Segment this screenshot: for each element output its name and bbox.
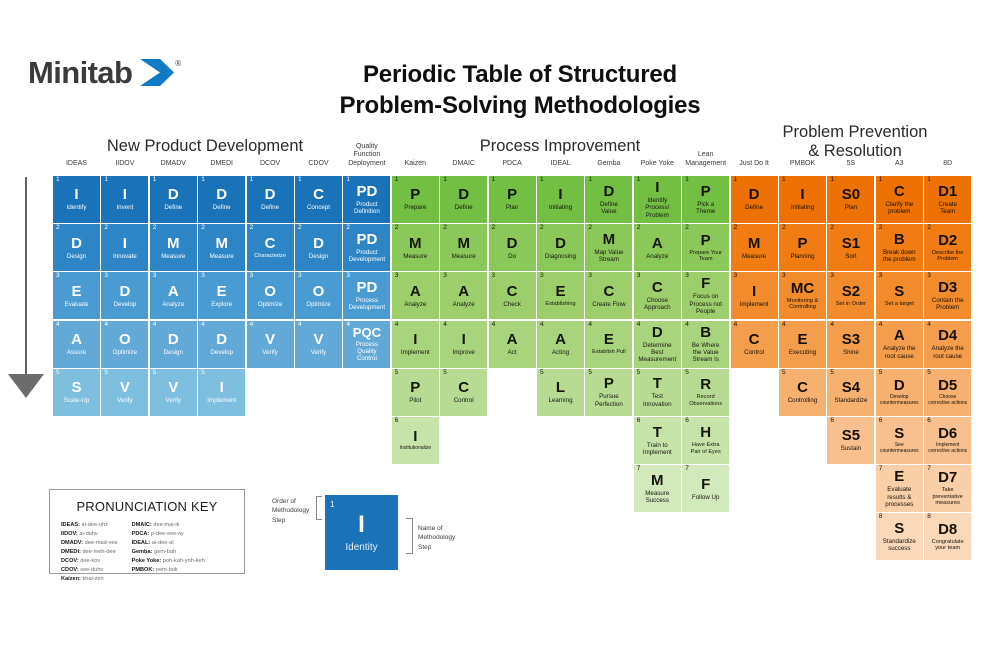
cell-gemba-1[interactable]: 1DDefineValue [585, 176, 632, 223]
cell-step-number: 5 [927, 370, 931, 377]
cell-step-number: 3 [250, 273, 254, 280]
cell-symbol: C [265, 236, 276, 251]
cell-8d-8[interactable]: 8D8Congratulateyour team [924, 513, 971, 560]
cell-symbol: I [220, 380, 224, 395]
cell-step-number: 5 [201, 370, 205, 377]
pronunciation-item-right-0: DMAIC: dee-mai-ik [132, 521, 205, 530]
cell-a3-6[interactable]: 6SSeecountermeasures [876, 417, 923, 464]
cell-step-number: 4 [346, 322, 350, 329]
cell-symbol: D2 [938, 233, 957, 248]
cell-pdca-3[interactable]: 3CCheck [489, 272, 536, 319]
cell-step-name: Check [501, 301, 523, 308]
cell-lean-6[interactable]: 6HHave ExtraPair of Eyes [682, 417, 729, 464]
cell-step-number: 4 [104, 322, 108, 329]
cell-step-name: Improve [451, 349, 477, 356]
cell-pmbok-2[interactable]: 2PPlanning [779, 224, 826, 271]
cell-pdca-1[interactable]: 1PPlan [489, 176, 536, 223]
cell-symbol: S4 [842, 380, 860, 395]
cell-pdca-4[interactable]: 4AAct [489, 321, 536, 368]
cell-symbol: D [749, 187, 760, 202]
minitab-logo: Minitab ® [28, 57, 181, 88]
pronunciation-item-right-5: PMBOK: pem-bok [132, 566, 205, 575]
cell-5s-5[interactable]: 5S4Standardize [827, 369, 874, 416]
cell-kaizen-6[interactable]: 6IInstitutionalize [392, 417, 439, 464]
cell-symbol: I [123, 236, 127, 251]
cell-step-number: 2 [927, 225, 931, 232]
cell-step-number: 3 [104, 273, 108, 280]
cell-step-name: Invent [114, 204, 135, 211]
cell-gemba-2[interactable]: 2MMap ValueStream [585, 224, 632, 271]
cell-pdca-2[interactable]: 2DDo [489, 224, 536, 271]
cell-ideas-4[interactable]: 4AAssure [53, 321, 100, 368]
cell-symbol: D [313, 236, 324, 251]
cell-step-name: Define [743, 204, 765, 211]
cell-step-name: Pick aTheme [694, 201, 717, 216]
cell-cdov-4[interactable]: 4VVerify [295, 321, 342, 368]
cell-cdov-2[interactable]: 2DDesign [295, 224, 342, 271]
cell-step-name: Measure [159, 253, 187, 260]
cell-dmedi-5[interactable]: 5IImplement [198, 369, 245, 416]
cell-lean-3[interactable]: 3FFocus onProcess notPeople [682, 272, 729, 319]
cell-pokeyoke-3[interactable]: 3CChooseApproach [634, 272, 681, 319]
cell-step-number: 1 [104, 177, 108, 184]
cell-symbol: S1 [842, 236, 860, 251]
cell-5s-6[interactable]: 6S5Sustain [827, 417, 874, 464]
cell-symbol: E [894, 469, 904, 484]
cell-justdoit-3[interactable]: 3IImplement [731, 272, 778, 319]
cell-step-number: 6 [637, 418, 641, 425]
cell-step-number: 3 [443, 273, 447, 280]
cell-symbol: V [120, 380, 130, 395]
registered-trademark-icon: ® [175, 59, 181, 68]
cell-symbol: M [603, 232, 616, 247]
legend-name-label: Name ofMethodologyStep [418, 524, 478, 552]
pronunciation-item-left-3: DMEDI: dee-meh-dee [61, 548, 118, 557]
cell-a3-5[interactable]: 5DDevelopcountermeasures [876, 369, 923, 416]
cell-pmbok-1[interactable]: 1IInitiating [779, 176, 826, 223]
cell-dmadv-5[interactable]: 5VVerify [150, 369, 197, 416]
cell-step-number: 1 [250, 177, 254, 184]
cell-step-number: 5 [56, 370, 60, 377]
cell-step-name: Focus onProcess notPeople [687, 293, 724, 315]
cell-qfd-4[interactable]: 4PQCProcessQualityControl [343, 321, 390, 368]
pronunciation-term: PMBOK: [132, 567, 155, 573]
cell-step-number: 8 [879, 514, 883, 521]
cell-step-name: Acting [550, 349, 571, 356]
cell-step-number: 1 [927, 177, 931, 184]
cell-a3-2[interactable]: 2BBreak downthe problem [876, 224, 923, 271]
cell-a3-3[interactable]: 3SSet a target [876, 272, 923, 319]
cell-pmbok-5[interactable]: 5CControlling [779, 369, 826, 416]
pronunciation-item-left-5: CDOV: see-duhv [61, 566, 118, 575]
cell-step-number: 2 [879, 225, 883, 232]
cell-dmedi-2[interactable]: 2MMeasure [198, 224, 245, 271]
cell-symbol: S2 [842, 284, 860, 299]
cell-8d-4[interactable]: 4D4Analyze theroot cause [924, 321, 971, 368]
cell-step-number: 3 [637, 273, 641, 280]
cell-symbol: F [701, 276, 710, 291]
column-label-line: Quality [333, 143, 400, 152]
column-label-line: Function [333, 151, 400, 160]
cell-symbol: D8 [938, 522, 957, 537]
cell-5s-3[interactable]: 3S2Set in Order [827, 272, 874, 319]
cell-symbol: I [752, 284, 756, 299]
cell-step-name: Measure [208, 253, 236, 260]
cell-kaizen-3[interactable]: 3AAnalyze [392, 272, 439, 319]
cell-step-name: Analyze [644, 253, 670, 260]
cell-dmadv-4[interactable]: 4DDesign [150, 321, 197, 368]
cell-symbol: D [119, 284, 130, 299]
cell-iidov-4[interactable]: 4OOptimize [101, 321, 148, 368]
cell-8d-6[interactable]: 6D6Implementcorrective actions [924, 417, 971, 464]
cell-ideal-1[interactable]: 1IInitiating [537, 176, 584, 223]
cell-step-name: Diagnosing [543, 253, 578, 260]
cell-symbol: S [894, 426, 904, 441]
cell-step-name: Identify [65, 204, 89, 211]
group-heading-new-product-development: New Product Development [55, 137, 355, 156]
cell-dmadv-1[interactable]: 1DDefine [150, 176, 197, 223]
cell-lean-7[interactable]: 7FFollow Up [682, 465, 729, 512]
cell-step-name: Develop [208, 349, 235, 356]
cell-step-number: 2 [492, 225, 496, 232]
cell-ideas-5[interactable]: 5SScale-Up [53, 369, 100, 416]
cell-step-name: Describe theProblem [930, 250, 965, 263]
cell-pmbok-4[interactable]: 4EExecuting [779, 321, 826, 368]
cell-8d-5[interactable]: 5D5Choosecorrective actions [924, 369, 971, 416]
cell-step-number: 2 [782, 225, 786, 232]
cell-8d-3[interactable]: 3D3Contain theProblem [924, 272, 971, 319]
cell-a3-1[interactable]: 1CClarify theproblem [876, 176, 923, 223]
cell-step-name: Initiating [547, 204, 574, 211]
cell-step-name: Choosecorrective actions [926, 395, 969, 407]
cell-step-number: 1 [540, 177, 544, 184]
cell-step-number: 4 [153, 322, 157, 329]
cell-step-number: 5 [782, 370, 786, 377]
cell-8d-2[interactable]: 2D2Describe theProblem [924, 224, 971, 271]
cell-symbol: M [748, 236, 761, 251]
cell-step-number: 7 [879, 466, 883, 473]
cell-symbol: P [507, 187, 517, 202]
cell-step-number: 4 [395, 322, 399, 329]
cell-step-number: 2 [250, 225, 254, 232]
cell-step-number: 3 [588, 273, 592, 280]
cell-step-number: 1 [637, 177, 641, 184]
cell-step-name: Control [742, 349, 766, 356]
cell-pokeyoke-2[interactable]: 2AAnalyze [634, 224, 681, 271]
cell-symbol: M [215, 236, 228, 251]
cell-step-number: 4 [443, 322, 447, 329]
cell-lean-2[interactable]: 2PPrepare YourTeam [682, 224, 729, 271]
cell-symbol: V [313, 332, 323, 347]
cell-symbol: I [123, 187, 127, 202]
cell-symbol: M [409, 236, 422, 251]
cell-step-name: ProcessDevelopment [347, 297, 387, 312]
cell-step-number: 3 [346, 273, 350, 280]
cell-step-number: 1 [588, 177, 592, 184]
cell-dcov-1[interactable]: 1DDefine [247, 176, 294, 223]
cell-step-name: MeasureSuccess [643, 490, 671, 505]
cell-step-name: Define [211, 204, 233, 211]
cell-symbol: C [749, 332, 760, 347]
cell-dmedi-1[interactable]: 1DDefine [198, 176, 245, 223]
pronunciation-item-left-4: DCOV: dee-kov [61, 557, 118, 566]
cell-gemba-3[interactable]: 3CCreate Flow [585, 272, 632, 319]
cell-step-number: 1 [685, 177, 689, 184]
cell-step-name: Verify [309, 349, 328, 356]
cell-step-name: Be Wherethe ValueStream Is [690, 342, 722, 364]
cell-step-name: Institutionalize [397, 446, 433, 452]
cell-dcov-2[interactable]: 2CCharacterize [247, 224, 294, 271]
pronunciation-term: PDCA: [132, 531, 150, 537]
cell-justdoit-1[interactable]: 1DDefine [731, 176, 778, 223]
cell-step-number: 3 [492, 273, 496, 280]
cell-step-name: Design [307, 253, 330, 260]
cell-8d-1[interactable]: 1D1CreateTeam [924, 176, 971, 223]
cell-5s-1[interactable]: 1S0Plan [827, 176, 874, 223]
cell-a3-7[interactable]: 7EEvaluateresults &processes [876, 465, 923, 512]
cell-step-number: 6 [927, 418, 931, 425]
cell-step-number: 6 [879, 418, 883, 425]
cell-dmaic-2[interactable]: 2MMeasure [440, 224, 487, 271]
pronunciation-item-left-2: DMADV: dee-mad-vee [61, 539, 118, 548]
pronunciation-term: DMEDI: [61, 549, 81, 555]
cell-step-name: Implement [738, 301, 771, 308]
cell-symbol: MC [791, 281, 814, 296]
page-title-line1: Periodic Table of Structured [300, 60, 740, 91]
cell-symbol: C [652, 280, 663, 295]
cell-step-name: Controlling [786, 397, 820, 404]
cell-symbol: D1 [938, 184, 957, 199]
cell-step-name: Implement [399, 349, 432, 356]
cell-symbol: T [653, 425, 662, 440]
cell-step-name: Evaluate [62, 301, 90, 308]
cell-step-name: Analyze theroot cause [930, 345, 966, 360]
cell-justdoit-4[interactable]: 4CControl [731, 321, 778, 368]
cell-step-name: CreateTeam [936, 201, 959, 216]
cell-5s-4[interactable]: 4S3Shine [827, 321, 874, 368]
cell-symbol: D [894, 378, 905, 393]
cell-step-number: 4 [782, 322, 786, 329]
cell-ideal-5[interactable]: 5LLearning [537, 369, 584, 416]
cell-5s-2[interactable]: 2S1Sort [827, 224, 874, 271]
cell-step-number: 3 [395, 273, 399, 280]
cell-step-number: 1 [782, 177, 786, 184]
cell-step-number: 3 [879, 273, 883, 280]
cell-step-number: 3 [298, 273, 302, 280]
cell-pokeyoke-4[interactable]: 4DDetermineBestMeasurement [634, 321, 681, 368]
pronunciation-key-panel: PRONUNCIATION KEY IDEAS: ai-dee-uhzIIDOV… [49, 489, 245, 574]
cell-step-number: 3 [830, 273, 834, 280]
cell-step-number: 4 [637, 322, 641, 329]
legend-left-bracket [316, 496, 322, 520]
cell-ideas-3[interactable]: 3EEvaluate [53, 272, 100, 319]
cell-lean-4[interactable]: 4BBe Wherethe ValueStream Is [682, 321, 729, 368]
cell-step-number: 4 [56, 322, 60, 329]
cell-symbol: D [216, 187, 227, 202]
cell-iidov-5[interactable]: 5VVerify [101, 369, 148, 416]
cell-step-name: Scale-Up [62, 397, 91, 404]
cell-kaizen-1[interactable]: 1PPrepare [392, 176, 439, 223]
pronunciation-item-left-1: IIDOV: ai-duhv [61, 530, 118, 539]
cell-kaizen-2[interactable]: 2MMeasure [392, 224, 439, 271]
cell-step-number: 2 [830, 225, 834, 232]
cell-step-number: 1 [298, 177, 302, 184]
cell-step-name: RecordObservations [687, 394, 724, 407]
cell-symbol: V [168, 380, 178, 395]
cell-pmbok-3[interactable]: 3MCMonitoring &Controlling [779, 272, 826, 319]
cell-step-number: 2 [201, 225, 205, 232]
cell-symbol: A [894, 328, 905, 343]
cell-symbol: PD [356, 184, 377, 199]
poster-canvas: Minitab ® Periodic Table of Structured P… [0, 0, 985, 656]
cell-step-number: 4 [685, 322, 689, 329]
pronunciation-term: IDEAS: [61, 522, 80, 528]
cell-symbol: O [313, 284, 325, 299]
cell-step-name: Train toImplement [641, 442, 674, 457]
cell-symbol: A [652, 236, 663, 251]
cell-step-number: 2 [104, 225, 108, 232]
group-heading-ppr-line1: Problem Prevention [740, 123, 970, 142]
cell-symbol: E [797, 332, 807, 347]
cell-8d-7[interactable]: 7D7Takepreventativemeasures [924, 465, 971, 512]
cell-step-name: ProcessQualityControl [354, 341, 380, 363]
cell-step-name: Standardizesuccess [881, 538, 918, 553]
cell-a3-8[interactable]: 8SStandardizesuccess [876, 513, 923, 560]
cell-gemba-4[interactable]: 4EEstablish Pull [585, 321, 632, 368]
cell-step-name: Executing [787, 349, 818, 356]
cell-step-name: ProductDevelopment [347, 249, 387, 264]
cell-step-number: 4 [298, 322, 302, 329]
cell-step-number: 3 [56, 273, 60, 280]
cell-step-name: Establishing [543, 301, 577, 308]
down-arrow-shaft-icon [25, 177, 27, 375]
cell-step-name: Sort [843, 253, 858, 260]
cell-step-number: 4 [492, 322, 496, 329]
cell-step-name: Monitoring &Controlling [785, 298, 820, 311]
cell-symbol: S [894, 284, 904, 299]
cell-step-number: 4 [734, 322, 738, 329]
cell-kaizen-4[interactable]: 4IImplement [392, 321, 439, 368]
cell-pokeyoke-6[interactable]: 6TTrain toImplement [634, 417, 681, 464]
cell-qfd-1[interactable]: 1PDProductDefinition [343, 176, 390, 223]
cell-dmedi-4[interactable]: 4DDevelop [198, 321, 245, 368]
cell-lean-5[interactable]: 5RRecordObservations [682, 369, 729, 416]
cell-pokeyoke-1[interactable]: 1IIdentifyProcess/Problem [634, 176, 681, 223]
cell-dmaic-3[interactable]: 3AAnalyze [440, 272, 487, 319]
cell-symbol: O [119, 332, 131, 347]
cell-dcov-3[interactable]: 3OOptimize [247, 272, 294, 319]
cell-step-name: Verify [164, 397, 183, 404]
pronunciation-term: CDOV: [61, 567, 79, 573]
cell-step-name: Act [506, 349, 519, 356]
cell-symbol: C [458, 380, 469, 395]
cell-step-name: TestInnovation [641, 393, 674, 408]
pronunciation-item-right-1: PDCA: p-dee-see-ay [132, 530, 205, 539]
cell-symbol: M [651, 473, 664, 488]
cell-symbol: P [797, 236, 807, 251]
cell-iidov-2[interactable]: 2IInnovate [101, 224, 148, 271]
cell-cdov-3[interactable]: 3OOptimize [295, 272, 342, 319]
cell-a3-4[interactable]: 4AAnalyze theroot cause [876, 321, 923, 368]
brand-wordmark: Minitab [28, 57, 132, 88]
cell-step-number: 2 [346, 225, 350, 232]
cell-step-number: 5 [879, 370, 883, 377]
cell-step-number: 1 [201, 177, 205, 184]
cell-qfd-2[interactable]: 2PDProductDevelopment [343, 224, 390, 271]
cell-ideas-2[interactable]: 2DDesign [53, 224, 100, 271]
cell-step-number: 3 [153, 273, 157, 280]
cell-step-number: 4 [588, 322, 592, 329]
cell-symbol: C [603, 284, 614, 299]
cell-symbol: S [894, 521, 904, 536]
cell-step-name: Optimize [304, 301, 332, 308]
cell-step-name: DefineValue [598, 201, 620, 216]
cell-ideal-4[interactable]: 4AActing [537, 321, 584, 368]
cell-iidov-3[interactable]: 3DDevelop [101, 272, 148, 319]
cell-symbol: I [655, 180, 659, 195]
cell-pokeyoke-7[interactable]: 7MMeasureSuccess [634, 465, 681, 512]
cell-step-name: Implement [205, 397, 238, 404]
cell-dmaic-5[interactable]: 5CControl [440, 369, 487, 416]
cell-gemba-5[interactable]: 5PPursuePerfection [585, 369, 632, 416]
cell-justdoit-2[interactable]: 2MMeasure [731, 224, 778, 271]
pronunciation-item-left-0: IDEAS: ai-dee-uhz [61, 521, 118, 530]
cell-dmaic-1[interactable]: 1DDefine [440, 176, 487, 223]
cell-symbol: D [265, 187, 276, 202]
cell-step-number: 3 [782, 273, 786, 280]
cell-symbol: V [265, 332, 275, 347]
pronunciation-item-right-4: Poke Yoke: poh-kah-yoh-keh [132, 557, 205, 566]
cell-step-number: 2 [56, 225, 60, 232]
cell-step-number: 7 [685, 466, 689, 473]
cell-step-name: Define [162, 204, 184, 211]
pronunciation-term: Kaizen: [61, 576, 81, 582]
page-title-line2: Problem-Solving Methodologies [300, 91, 740, 122]
cell-lean-1[interactable]: 1PPick aTheme [682, 176, 729, 223]
cell-step-number: 1 [395, 177, 399, 184]
cell-step-name: Implementcorrective actions [926, 443, 969, 455]
legend-sample-symbol: I [358, 513, 365, 537]
cell-step-name: Analyze [402, 301, 428, 308]
cell-symbol: D4 [938, 328, 957, 343]
cell-cdov-1[interactable]: 1CConcept [295, 176, 342, 223]
cell-step-name: Innovate [111, 253, 139, 260]
cell-dcov-4[interactable]: 4VVerify [247, 321, 294, 368]
cell-step-number: 1 [153, 177, 157, 184]
cell-dmedi-3[interactable]: 3EExplore [198, 272, 245, 319]
cell-dmadv-3[interactable]: 3AAnalyze [150, 272, 197, 319]
cell-kaizen-5[interactable]: 5PPilot [392, 369, 439, 416]
cell-step-number: 2 [153, 225, 157, 232]
cell-pokeyoke-5[interactable]: 5TTestInnovation [634, 369, 681, 416]
cell-dmadv-2[interactable]: 2MMeasure [150, 224, 197, 271]
cell-step-name: Developcountermeasures [878, 395, 921, 407]
legend-order-label: Order ofMethodologyStep [272, 497, 320, 525]
cell-qfd-3[interactable]: 3PDProcessDevelopment [343, 272, 390, 319]
cell-step-number: 5 [637, 370, 641, 377]
cell-ideal-2[interactable]: 2DDiagnosing [537, 224, 584, 271]
cell-ideas-1[interactable]: 1IIdentify [53, 176, 100, 223]
cell-symbol: D [555, 236, 566, 251]
cell-step-number: 6 [395, 418, 399, 425]
cell-dmaic-4[interactable]: 4IImprove [440, 321, 487, 368]
cell-step-name: Assure [65, 349, 88, 356]
cell-iidov-1[interactable]: 1IInvent [101, 176, 148, 223]
column-label-line: Lean [672, 151, 739, 160]
cell-symbol: B [700, 325, 711, 340]
cell-symbol: C [797, 380, 808, 395]
cell-ideal-3[interactable]: 3EEstablishing [537, 272, 584, 319]
